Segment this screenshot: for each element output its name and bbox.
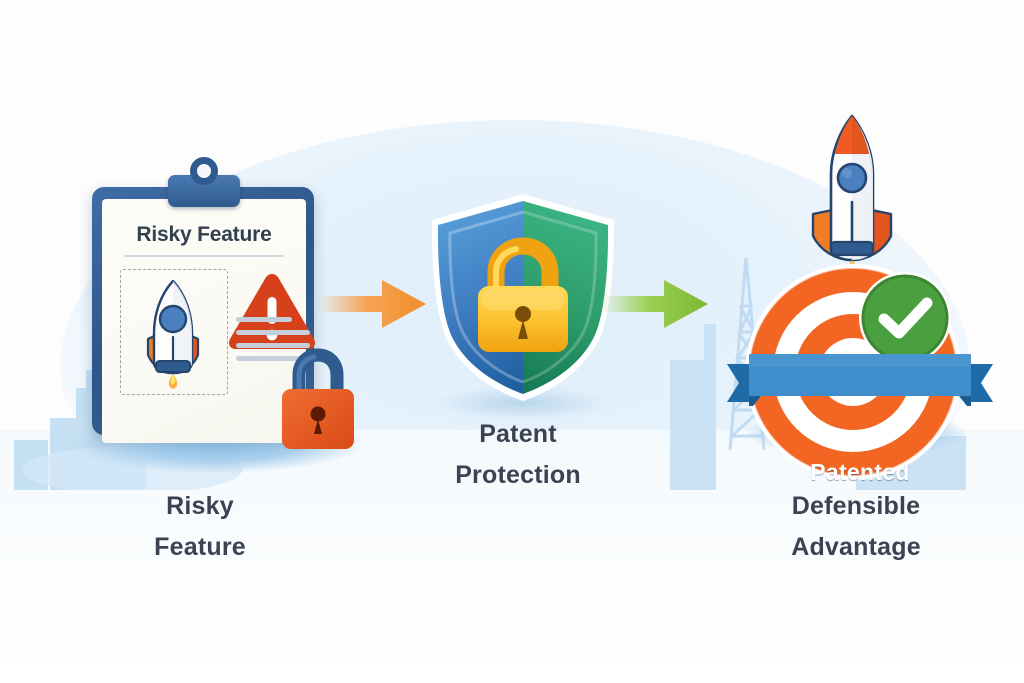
clipboard-divider: [124, 255, 284, 257]
arrow-right-green-icon: [600, 276, 712, 332]
arrow-right-orange-icon: [318, 276, 430, 332]
clipboard-clip-ring-icon: [190, 157, 218, 185]
shield-lock-icon: [418, 190, 628, 405]
rocket-icon: [126, 277, 220, 389]
caption-risky-feature: Risky Feature: [100, 486, 300, 567]
illustration-canvas: Risky Feature: [0, 0, 1024, 683]
clipboard-title: Risky Feature: [102, 223, 306, 247]
padlock-icon: [266, 333, 370, 451]
step-patent-protection[interactable]: [418, 190, 628, 420]
caption-patent-protection: Patent Protection: [408, 414, 628, 495]
caption-defensible-advantage: Defensible Advantage: [726, 486, 986, 567]
patented-ribbon-icon: [727, 346, 993, 418]
step-defensible-advantage[interactable]: Patented: [735, 110, 985, 470]
